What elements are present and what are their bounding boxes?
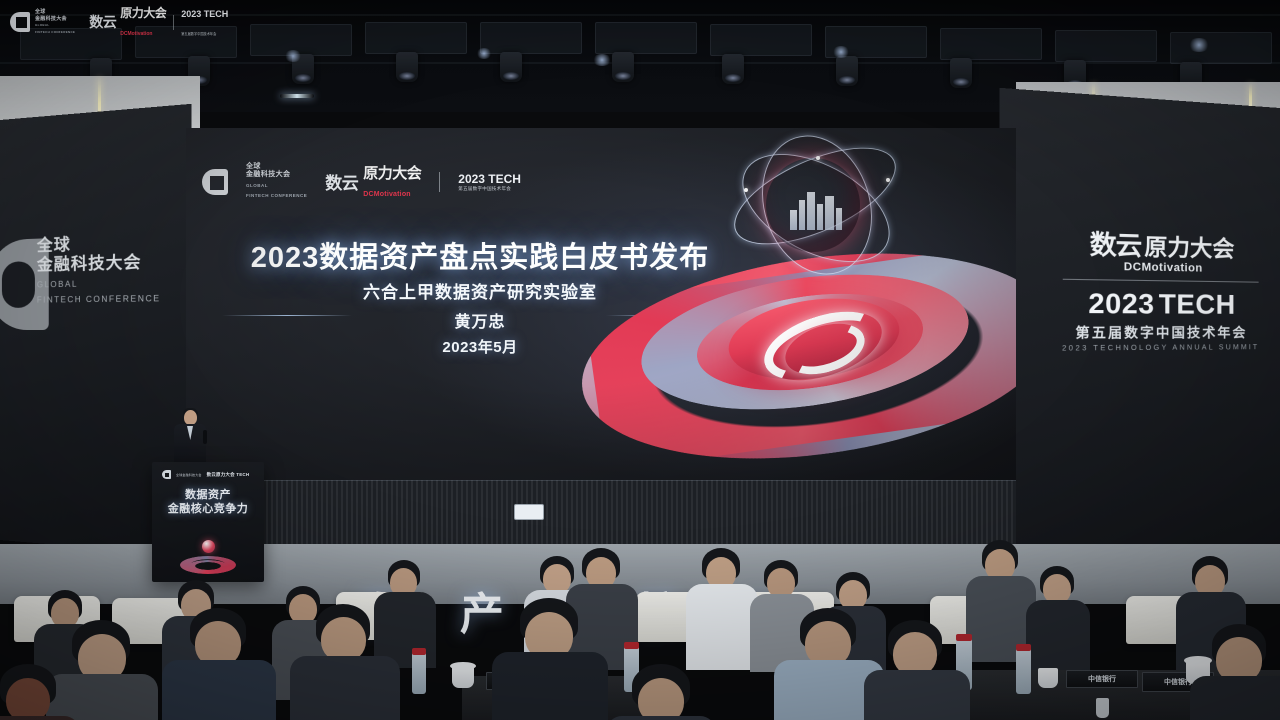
overlay-fintech-logo: 全球 金融科技大会 GLOBAL FINTECH CONFERENCE <box>10 9 75 35</box>
overlay-dcm-event: 原力大会 <box>120 6 166 20</box>
overlay-dcm-logo: 数云 原力大会 DCMotivation 2023 TECH 第五届数字中国技术… <box>89 4 228 40</box>
stage-apron <box>186 480 1016 545</box>
stage-light-icon <box>396 52 418 82</box>
podium-logo-cn: 全球金融科技大会 <box>176 473 202 477</box>
summit-year: 2023 <box>1088 288 1154 321</box>
podium-title-line2: 金融核心竞争力 <box>152 502 264 516</box>
overlay-fintech-text: 全球 金融科技大会 GLOBAL FINTECH CONFERENCE <box>35 9 75 35</box>
bottle-cap <box>624 642 639 649</box>
light-glow <box>832 46 850 58</box>
fintech-en-line1: GLOBAL <box>37 277 172 291</box>
light-glow <box>284 50 302 62</box>
stage-light-icon <box>836 56 858 86</box>
name-card: 中信银行 <box>1066 670 1138 688</box>
bottle-cap <box>956 634 972 641</box>
fintech-cn-line2: 金融科技大会 <box>37 252 172 275</box>
summit-tech: TECH <box>1159 288 1236 320</box>
tea-cup-lid <box>450 662 476 670</box>
conference-stage-photo: 全球 金融科技大会 GLOBAL FINTECH CONFERENCE 数云 原… <box>0 0 1280 720</box>
summit-cn: 第五届数字中国技术年会 <box>1058 322 1262 342</box>
light-glow <box>592 54 612 66</box>
stage-sign <box>514 504 544 520</box>
podium-swirl-emblem <box>180 540 236 574</box>
divider <box>173 15 174 30</box>
dcm-brand-cn: 数云 <box>1090 224 1141 263</box>
bottle-cap <box>412 648 426 655</box>
bottle-cap <box>1016 644 1031 651</box>
podium-title: 数据资产 金融核心竞争力 <box>152 488 264 516</box>
broadcast-overlay-logos: 全球 金融科技大会 GLOBAL FINTECH CONFERENCE 数云 原… <box>10 4 228 40</box>
dcm-event-cn: 原力大会 <box>1144 229 1234 264</box>
podium-led-panel: 全球金融科技大会 数云原力大会 TECH 数据资产 金融核心竞争力 <box>152 462 264 582</box>
fintech-mark-icon <box>10 12 30 32</box>
overlay-tech-sub: 第五届数字中国技术年会 <box>181 32 216 36</box>
dcmotivation-wordmark: 数云 原力大会 DCMotivation 2023 TECH 第五届数字中国技术… <box>1058 223 1262 353</box>
tea-cup-lid <box>1184 656 1212 665</box>
overlay-dcm-brand: 数云 <box>89 12 116 32</box>
light-glow <box>476 48 492 59</box>
overlay-tech-year: 2023 TECH <box>181 9 228 19</box>
drinking-glass <box>1096 698 1109 718</box>
podium-logo-strip: 全球金融科技大会 数云原力大会 TECH <box>162 470 249 479</box>
fintech-mark-icon <box>162 470 171 479</box>
summit-en: 2023 TECHNOLOGY ANNUAL SUMMIT <box>1058 344 1262 353</box>
speaker-head <box>184 410 197 425</box>
podium-logo-cn2: 数云原力大会 TECH <box>207 472 250 478</box>
overlay-dcm-en: DCMotivation <box>120 31 152 37</box>
overlay-fintech-en2: FINTECH CONFERENCE <box>35 29 75 36</box>
stage-light-icon <box>612 52 634 82</box>
fintech-en-line2: FINTECH CONFERENCE <box>37 293 172 306</box>
divider <box>1063 279 1259 283</box>
wall-panel-right: 数云 原力大会 DCMotivation 2023 TECH 第五届数字中国技术… <box>1000 88 1280 568</box>
podium-title-line1: 数据资产 <box>152 488 264 502</box>
water-bottle <box>1016 648 1031 694</box>
podium-sphere-icon <box>202 540 215 553</box>
stage-light-icon <box>722 54 744 84</box>
tea-cup <box>1038 668 1058 688</box>
stage-light-icon <box>500 52 522 82</box>
light-glow <box>1188 38 1210 52</box>
fintech-wordmark: 全球 金融科技大会 GLOBAL FINTECH CONFERENCE <box>37 232 172 306</box>
water-bottle <box>412 652 426 694</box>
ceiling-led-bar <box>280 94 314 98</box>
microphone-icon <box>203 430 207 444</box>
stage-light-icon <box>950 58 972 88</box>
main-led-screen: 全球 金融科技大会 GLOBAL FINTECH CONFERENCE 数云 原… <box>186 128 1016 480</box>
